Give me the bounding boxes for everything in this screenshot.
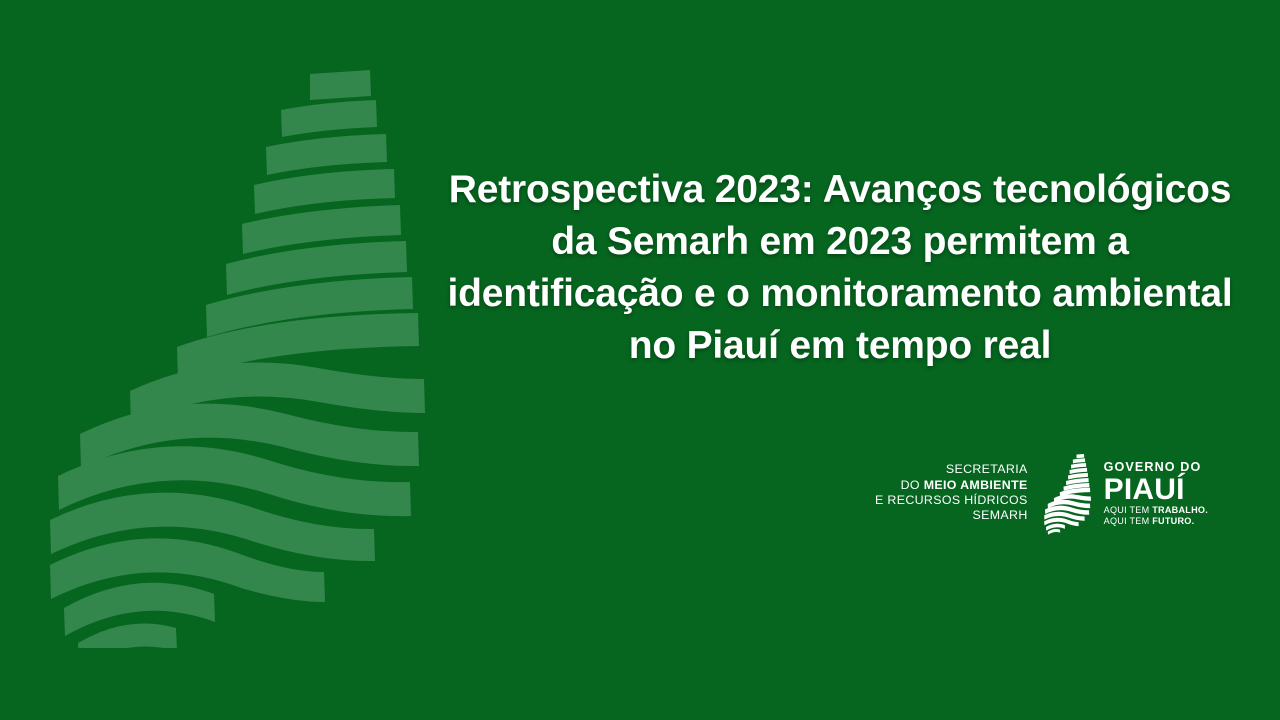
tagline-futuro-bold: FUTURO. bbox=[1152, 516, 1194, 526]
piaui-map-mark-icon bbox=[1040, 452, 1092, 536]
piaui-map-watermark bbox=[18, 48, 438, 648]
piaui-label: PIAUÍ bbox=[1104, 474, 1208, 505]
semarh-line-1: SECRETARIA bbox=[875, 462, 1028, 477]
tagline-trabalho: AQUI TEM TRABALHO. bbox=[1104, 505, 1208, 516]
semarh-line-3: E RECURSOS HÍDRICOS bbox=[875, 493, 1028, 508]
tagline-futuro-light: AQUI TEM bbox=[1104, 516, 1153, 526]
tagline-futuro: AQUI TEM FUTURO. bbox=[1104, 516, 1208, 527]
governo-label: GOVERNO DO bbox=[1104, 460, 1208, 474]
logo-lockup: SECRETARIA DO MEIO AMBIENTE E RECURSOS H… bbox=[896, 448, 1208, 540]
semarh-line-4: SEMARH bbox=[875, 508, 1028, 523]
semarh-line-2: DO MEIO AMBIENTE bbox=[875, 478, 1028, 493]
slide-canvas: Retrospectiva 2023: Avanços tecnológicos… bbox=[0, 0, 1280, 720]
page-title: Retrospectiva 2023: Avanços tecnológicos… bbox=[440, 164, 1240, 372]
governo-do-piaui-wordmark: GOVERNO DO PIAUÍ AQUI TEM TRABALHO. AQUI… bbox=[1104, 460, 1208, 528]
semarh-line-2-bold: MEIO AMBIENTE bbox=[924, 478, 1028, 492]
semarh-wordmark: SECRETARIA DO MEIO AMBIENTE E RECURSOS H… bbox=[875, 462, 1028, 526]
semarh-line-2-light: DO bbox=[901, 478, 924, 492]
tagline-trabalho-light: AQUI TEM bbox=[1104, 505, 1153, 515]
tagline-trabalho-bold: TRABALHO. bbox=[1152, 505, 1208, 515]
